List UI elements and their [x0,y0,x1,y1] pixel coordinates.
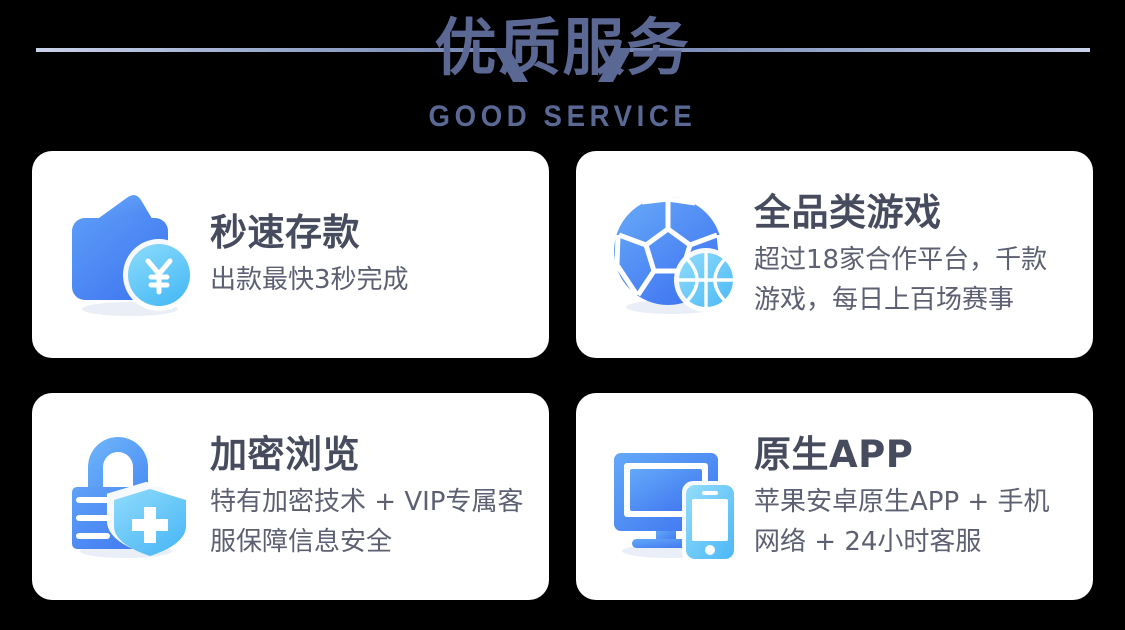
card-description: 超过18家合作平台，千款 游戏，每日上百场赛事 [754,240,1071,320]
card-description-line: 游戏，每日上百场赛事 [754,280,1071,320]
card-text-block: 全品类游戏 超过18家合作平台，千款 游戏，每日上百场赛事 [746,190,1071,320]
page-subtitle: GOOD SERVICE [45,98,1080,136]
banner-header: 优质服务 GOOD SERVICE [0,0,1125,150]
promo-banner: 优质服务 GOOD SERVICE [0,0,1125,630]
lock-shield-icon [62,431,202,563]
feature-card-games[interactable]: 全品类游戏 超过18家合作平台，千款 游戏，每日上百场赛事 [576,151,1093,358]
soccer-basketball-icon [606,189,746,321]
feature-card-deposit[interactable]: 秒速存款 出款最快3秒完成 [32,151,549,358]
card-title: 秒速存款 [210,210,527,256]
feature-card-native-app[interactable]: 原生APP 苹果安卓原生APP + 手机 网络 + 24小时客服 [576,393,1093,600]
card-description: 特有加密技术 + VIP专属客 服保障信息安全 [210,482,527,562]
card-title: 原生APP [754,432,1071,478]
card-description-line: 特有加密技术 + VIP专属客 [210,482,527,522]
card-text-block: 加密浏览 特有加密技术 + VIP专属客 服保障信息安全 [202,432,527,562]
card-description-line: 出款最快3秒完成 [210,260,527,300]
card-description-line: 网络 + 24小时客服 [754,522,1071,562]
card-description-line: 苹果安卓原生APP + 手机 [754,482,1071,522]
monitor-phone-icon [606,431,746,563]
card-description-line: 服保障信息安全 [210,522,527,562]
card-description: 出款最快3秒完成 [210,260,527,300]
card-text-block: 原生APP 苹果安卓原生APP + 手机 网络 + 24小时客服 [746,432,1071,562]
card-description-line: 超过18家合作平台，千款 [754,240,1071,280]
feature-card-encryption[interactable]: 加密浏览 特有加密技术 + VIP专属客 服保障信息安全 [32,393,549,600]
card-text-block: 秒速存款 出款最快3秒完成 [202,210,527,300]
feature-card-grid: 秒速存款 出款最快3秒完成 [32,151,1093,630]
card-title: 全品类游戏 [754,190,1071,236]
card-title: 加密浏览 [210,432,527,478]
wallet-yen-icon [62,189,202,321]
card-description: 苹果安卓原生APP + 手机 网络 + 24小时客服 [754,482,1071,562]
page-title: 优质服务 [0,8,1125,88]
